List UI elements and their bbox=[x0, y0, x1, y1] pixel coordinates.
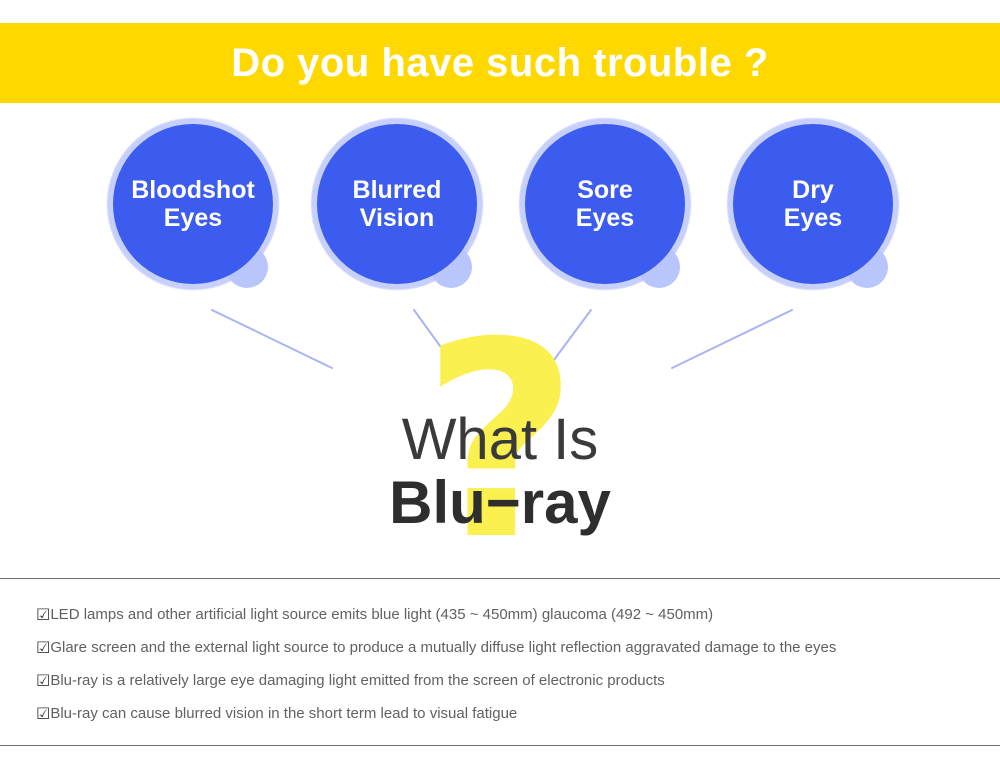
fact-text: LED lamps and other artificial light sou… bbox=[50, 598, 713, 631]
fact-text: Glare screen and the external light sour… bbox=[50, 631, 836, 664]
circle-disc: Dry Eyes bbox=[733, 124, 893, 284]
symptom-label: Dry Eyes bbox=[778, 176, 848, 232]
headline-line-1: What Is bbox=[0, 411, 1000, 469]
circle-disc: Blurred Vision bbox=[317, 124, 477, 284]
headline-block: ? What Is Blu−ray bbox=[0, 355, 1000, 565]
symptom-circle-bloodshot-eyes[interactable]: Bloodshot Eyes bbox=[98, 113, 288, 298]
list-item: ☑ Glare screen and the external light so… bbox=[0, 631, 1000, 664]
headline-line-2: Blu−ray bbox=[0, 473, 1000, 533]
circle-disc: Sore Eyes bbox=[525, 124, 685, 284]
symptom-circle-dry-eyes[interactable]: Dry Eyes bbox=[718, 113, 908, 298]
header-banner: Do you have such trouble ? bbox=[0, 23, 1000, 103]
symptom-label: Bloodshot Eyes bbox=[125, 176, 261, 232]
circle-disc: Bloodshot Eyes bbox=[113, 124, 273, 284]
list-item: ☑ Blu-ray is a relatively large eye dama… bbox=[0, 664, 1000, 697]
page-title: Do you have such trouble ? bbox=[231, 43, 769, 83]
facts-list: ☑ LED lamps and other artificial light s… bbox=[0, 598, 1000, 730]
symptom-label: Sore Eyes bbox=[570, 176, 640, 232]
symptom-label: Blurred Vision bbox=[347, 176, 448, 232]
fact-text: Blu-ray is a relatively large eye damagi… bbox=[50, 664, 664, 697]
infographic-page: Do you have such trouble ? Bloodshot Eye… bbox=[0, 0, 1000, 777]
symptom-circles: Bloodshot Eyes Blurred Vision Sore Eyes … bbox=[0, 113, 1000, 298]
list-item: ☑ LED lamps and other artificial light s… bbox=[0, 598, 1000, 631]
checkbox-checked-icon: ☑ bbox=[36, 697, 50, 730]
list-item: ☑ Blu-ray can cause blurred vision in th… bbox=[0, 697, 1000, 730]
divider-top bbox=[0, 578, 1000, 579]
fact-text: Blu-ray can cause blurred vision in the … bbox=[50, 697, 517, 730]
checkbox-checked-icon: ☑ bbox=[36, 631, 50, 664]
symptom-circle-blurred-vision[interactable]: Blurred Vision bbox=[302, 113, 492, 298]
divider-bottom bbox=[0, 745, 1000, 746]
checkbox-checked-icon: ☑ bbox=[36, 598, 50, 631]
checkbox-checked-icon: ☑ bbox=[36, 664, 50, 697]
symptom-circle-sore-eyes[interactable]: Sore Eyes bbox=[510, 113, 700, 298]
